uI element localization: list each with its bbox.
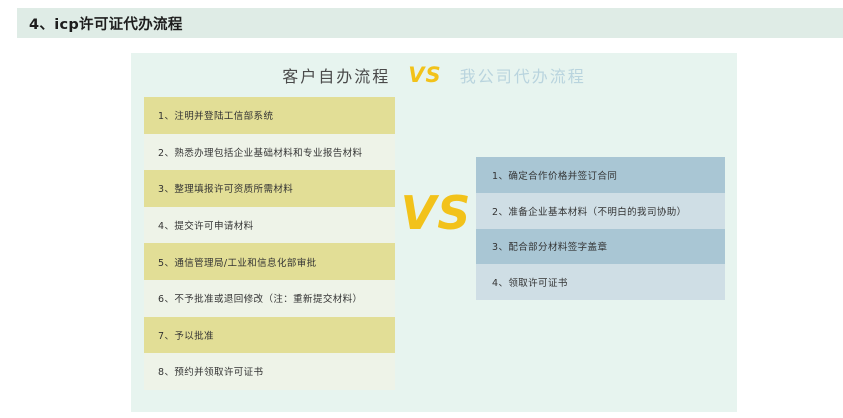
page-title: 4、icp许可证代办流程 bbox=[29, 13, 183, 34]
flow-step: 3、配合部分材料签字盖章 bbox=[476, 229, 725, 265]
flow-step: 4、领取许可证书 bbox=[476, 264, 725, 300]
comparison-heading: 客户自办流程 VS 我公司代办流程 bbox=[131, 58, 737, 92]
flow-step: 1、确定合作价格并签订合同 bbox=[476, 157, 725, 193]
flow-step: 6、不予批准或退回修改（注：重新提交材料） bbox=[144, 280, 395, 317]
customer-flow-column: 1、注明并登陆工信部系统 2、熟悉办理包括企业基础材料和专业报告材料 3、整理填… bbox=[144, 97, 395, 390]
heading-left-label: 客户自办流程 bbox=[282, 63, 390, 87]
section-header: 4、icp许可证代办流程 bbox=[17, 8, 843, 38]
heading-right-label: 我公司代办流程 bbox=[460, 63, 586, 87]
flow-step: 3、整理填报许可资质所需材料 bbox=[144, 170, 395, 207]
flow-step: 4、提交许可申请材料 bbox=[144, 207, 395, 244]
versus-separator: VS bbox=[395, 183, 477, 243]
heading-vs-label: VS bbox=[408, 63, 441, 87]
flow-step: 1、注明并登陆工信部系统 bbox=[144, 97, 395, 134]
comparison-diagram: 客户自办流程 VS 我公司代办流程 1、注明并登陆工信部系统 2、熟悉办理包括企… bbox=[131, 53, 737, 412]
flow-step: 8、预约并领取许可证书 bbox=[144, 353, 395, 390]
flow-step: 5、通信管理局/工业和信息化部审批 bbox=[144, 243, 395, 280]
flow-step: 2、准备企业基本材料（不明白的我司协助） bbox=[476, 193, 725, 229]
agency-flow-column: 1、确定合作价格并签订合同 2、准备企业基本材料（不明白的我司协助） 3、配合部… bbox=[476, 157, 725, 300]
flow-step: 2、熟悉办理包括企业基础材料和专业报告材料 bbox=[144, 134, 395, 171]
flow-step: 7、予以批准 bbox=[144, 317, 395, 354]
